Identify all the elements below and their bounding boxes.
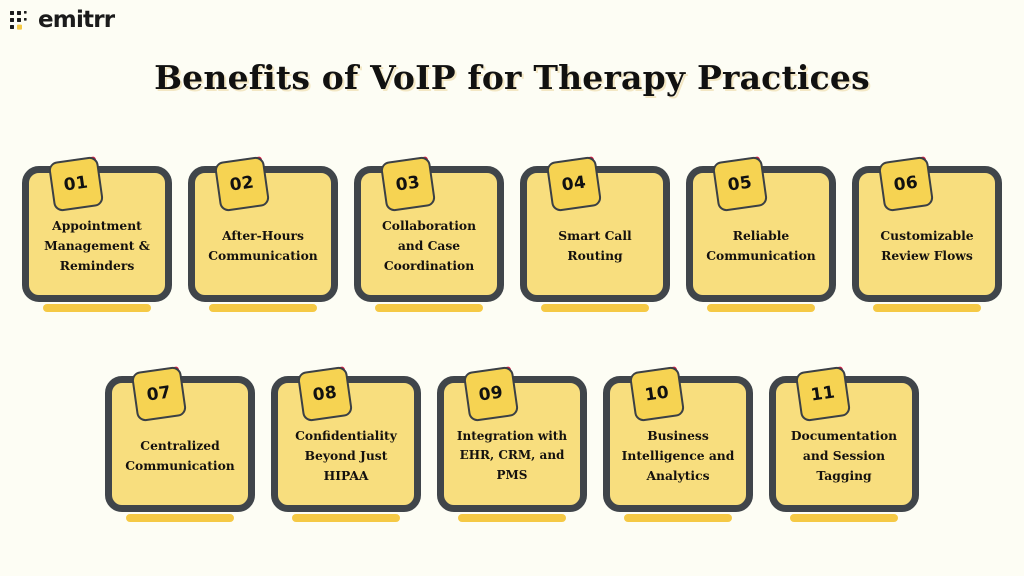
badge-square: 05 [712, 156, 768, 212]
card-foot-bar [624, 514, 732, 522]
card-title: Collaboration and Case Coordination [370, 216, 488, 276]
badge-square: 08 [297, 366, 353, 422]
benefit-card-07[interactable]: 07 Centralized Communication [105, 376, 255, 512]
card-title: Reliable Communication [702, 226, 820, 266]
badge-number: 08 [312, 384, 338, 404]
card-title: Documentation and Session Tagging [785, 426, 903, 486]
card-badge-01: 01 [51, 159, 101, 209]
card-title: Business Intelligence and Analytics [619, 426, 737, 486]
emitrr-dot-grid-icon [10, 11, 31, 31]
card-foot-bar [458, 514, 566, 522]
badge-square: 06 [878, 156, 934, 212]
badge-number: 11 [810, 384, 836, 404]
card-slot-04: 04 Smart Call Routing [520, 166, 670, 302]
card-badge-04: 04 [549, 159, 599, 209]
benefit-card-04[interactable]: 04 Smart Call Routing [520, 166, 670, 302]
card-foot-bar [790, 514, 898, 522]
card-badge-09: 09 [466, 369, 516, 419]
card-slot-05: 05 Reliable Communication [686, 166, 836, 302]
benefit-card-05[interactable]: 05 Reliable Communication [686, 166, 836, 302]
card-row-2: 07 Centralized Communication 08 Confiden… [0, 376, 1024, 512]
badge-square: 09 [463, 366, 519, 422]
card-badge-07: 07 [134, 369, 184, 419]
benefit-card-02[interactable]: 02 After-Hours Communication [188, 166, 338, 302]
badge-square: 11 [795, 366, 851, 422]
card-foot-bar [375, 304, 483, 312]
card-slot-01: 01 Appointment Management & Reminders [22, 166, 172, 302]
badge-number: 02 [229, 174, 255, 194]
card-title: After-Hours Communication [204, 226, 322, 266]
card-slot-06: 06 Customizable Review Flows [852, 166, 1002, 302]
badge-square: 03 [380, 156, 436, 212]
page-title: Benefits of VoIP for Therapy Practices [0, 58, 1024, 97]
card-badge-11: 11 [798, 369, 848, 419]
badge-number: 04 [561, 174, 587, 194]
card-slot-03: 03 Collaboration and Case Coordination [354, 166, 504, 302]
card-badge-08: 08 [300, 369, 350, 419]
card-slot-10: 10 Business Intelligence and Analytics [603, 376, 753, 512]
benefit-card-03[interactable]: 03 Collaboration and Case Coordination [354, 166, 504, 302]
badge-square: 04 [546, 156, 602, 212]
card-badge-03: 03 [383, 159, 433, 209]
brand-name: emitrr [38, 9, 114, 32]
card-badge-06: 06 [881, 159, 931, 209]
benefit-card-01[interactable]: 01 Appointment Management & Reminders [22, 166, 172, 302]
card-slot-08: 08 Confidentiality Beyond Just HIPAA [271, 376, 421, 512]
benefit-card-10[interactable]: 10 Business Intelligence and Analytics [603, 376, 753, 512]
card-title: Confidentiality Beyond Just HIPAA [287, 426, 405, 486]
card-slot-09: 09 Integration with EHR, CRM, and PMS [437, 376, 587, 512]
benefit-card-11[interactable]: 11 Documentation and Session Tagging [769, 376, 919, 512]
badge-number: 10 [644, 384, 670, 404]
badge-square: 02 [214, 156, 270, 212]
card-foot-bar [292, 514, 400, 522]
card-slot-02: 02 After-Hours Communication [188, 166, 338, 302]
card-foot-bar [873, 304, 981, 312]
card-row-1: 01 Appointment Management & Reminders 02… [0, 166, 1024, 302]
benefit-card-06[interactable]: 06 Customizable Review Flows [852, 166, 1002, 302]
card-foot-bar [43, 304, 151, 312]
card-foot-bar [541, 304, 649, 312]
card-title: Integration with EHR, CRM, and PMS [453, 427, 571, 485]
card-badge-10: 10 [632, 369, 682, 419]
badge-number: 03 [395, 174, 421, 194]
card-title: Centralized Communication [121, 436, 239, 476]
badge-number: 09 [478, 384, 504, 404]
benefit-card-09[interactable]: 09 Integration with EHR, CRM, and PMS [437, 376, 587, 512]
badge-number: 01 [63, 174, 89, 194]
card-slot-11: 11 Documentation and Session Tagging [769, 376, 919, 512]
card-slot-07: 07 Centralized Communication [105, 376, 255, 512]
brand-logo[interactable]: emitrr [10, 9, 114, 32]
card-badge-02: 02 [217, 159, 267, 209]
badge-number: 07 [146, 384, 172, 404]
badge-square: 01 [48, 156, 104, 212]
card-title: Smart Call Routing [536, 226, 654, 266]
card-foot-bar [126, 514, 234, 522]
badge-square: 10 [629, 366, 685, 422]
card-title: Customizable Review Flows [868, 226, 986, 266]
card-title: Appointment Management & Reminders [38, 216, 156, 276]
badge-square: 07 [131, 366, 187, 422]
badge-number: 05 [727, 174, 753, 194]
badge-number: 06 [893, 174, 919, 194]
benefit-card-08[interactable]: 08 Confidentiality Beyond Just HIPAA [271, 376, 421, 512]
card-foot-bar [209, 304, 317, 312]
card-badge-05: 05 [715, 159, 765, 209]
card-foot-bar [707, 304, 815, 312]
